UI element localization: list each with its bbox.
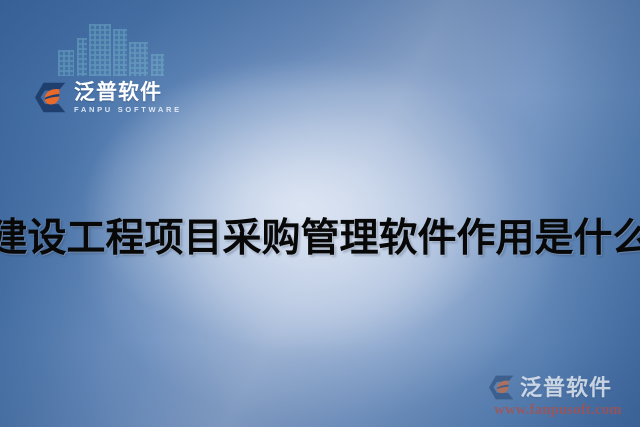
headline-title: 建设工程项目采购管理软件作用是什么 — [0, 206, 640, 264]
city-buildings-watermark — [58, 14, 176, 76]
building-silhouette — [89, 24, 111, 76]
building-silhouette — [151, 54, 164, 76]
brand-name-en: FANPU SOFTWARE — [74, 106, 182, 114]
banner-image: 泛普软件 FANPU SOFTWARE 建设工程项目采购管理软件作用是什么 泛普… — [0, 0, 640, 427]
building-silhouette — [58, 50, 74, 76]
building-silhouette — [77, 38, 87, 76]
footer-brand-row: 泛普软件 — [482, 375, 634, 400]
footer-brand-name-cn: 泛普软件 — [520, 377, 612, 399]
fanpu-hexagon-logo-icon — [488, 375, 515, 400]
footer-watermark: 泛普软件 www.fanpusoft.com — [482, 375, 634, 419]
building-silhouette — [129, 42, 148, 76]
fanpu-hexagon-logo-icon — [34, 82, 67, 113]
building-silhouette — [113, 29, 127, 76]
brand-logo-lockup: 泛普软件 FANPU SOFTWARE — [34, 82, 182, 114]
footer-website-url: www.fanpusoft.com — [482, 402, 634, 419]
brand-name-cn: 泛普软件 — [74, 82, 182, 103]
brand-text-block: 泛普软件 FANPU SOFTWARE — [74, 82, 182, 114]
